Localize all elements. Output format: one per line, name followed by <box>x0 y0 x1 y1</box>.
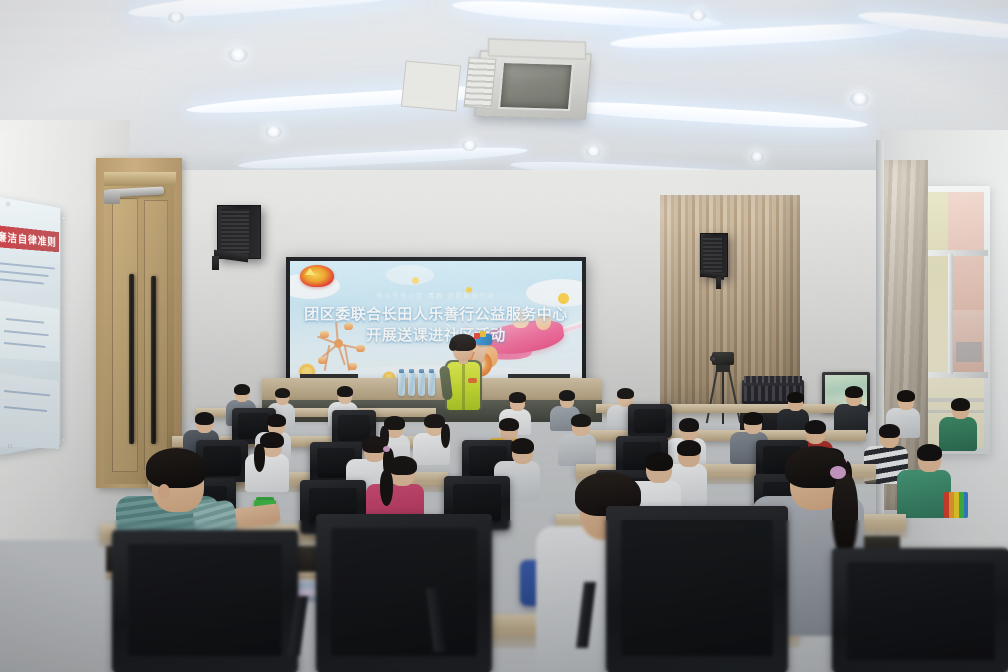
tripod-leg <box>722 370 724 424</box>
vest-logo <box>468 378 477 383</box>
chair-backrest <box>847 562 995 660</box>
slide-subtitle: 长沙市天心区 青春 志愿服务行动 <box>290 291 582 300</box>
emblem-star-icon <box>305 268 315 275</box>
student-shirt <box>897 470 951 518</box>
chair-backrest <box>634 409 666 433</box>
student-hair <box>879 424 900 438</box>
presenter-hair-bun <box>449 341 457 351</box>
window-mullion-vertical <box>948 254 953 374</box>
door-panel <box>112 198 138 472</box>
poster-screw <box>62 438 66 442</box>
student-hairtie <box>830 466 846 479</box>
student-hair <box>787 392 804 403</box>
exterior-window <box>956 342 982 362</box>
student-hair <box>195 412 214 425</box>
student-hair <box>897 390 915 402</box>
student-hair <box>511 438 534 454</box>
student-hair <box>559 390 575 401</box>
student-shirt <box>939 417 977 451</box>
student-hair <box>617 388 634 399</box>
student-hair <box>743 412 763 425</box>
slide-title-line-1: 团区委联合长田人乐善行公益服务中心 <box>290 305 582 326</box>
student-hair <box>275 388 290 398</box>
ceiling-downlight <box>228 48 248 62</box>
vest-zipper <box>462 364 465 410</box>
chair-backrest <box>203 446 241 476</box>
student-hair <box>267 414 286 427</box>
mixer-knob-row[interactable] <box>744 376 802 383</box>
student-hair <box>571 414 591 427</box>
student-hair <box>146 448 206 488</box>
bottle-cap <box>399 369 404 373</box>
door-handle[interactable] <box>151 276 156 444</box>
slide-cloud <box>386 265 434 285</box>
speaker-mount-arm <box>212 256 219 270</box>
ac-vent-left <box>463 57 496 109</box>
window-mullion-horizontal <box>918 250 988 256</box>
door-handle[interactable] <box>129 274 134 444</box>
student-hair <box>234 384 250 395</box>
poster-screw <box>6 202 10 206</box>
ceiling-downlight <box>850 92 869 106</box>
ceiling-downlight <box>168 12 184 23</box>
ceiling-access-panel <box>401 61 461 112</box>
student-hair <box>805 420 826 434</box>
window-mullion-horizontal <box>918 372 988 378</box>
speaker-grille <box>703 236 722 272</box>
door-closer-body <box>104 190 120 204</box>
chair-backrest <box>338 415 370 441</box>
student-hairtie <box>383 446 390 452</box>
rainbow-shirt-graphic <box>944 492 968 518</box>
door-top-rail <box>104 172 176 186</box>
student-hair <box>337 386 353 397</box>
slide-title: 团区委联合长田人乐善行公益服务中心 开展送课进社区活动 <box>290 305 582 346</box>
student-ponytail <box>254 444 265 472</box>
ceiling-downlight <box>690 10 706 21</box>
water-bottle <box>408 372 415 396</box>
bottle-cap <box>429 369 434 373</box>
student-hair <box>499 418 519 431</box>
poster-screw <box>8 444 12 448</box>
student-ear <box>158 484 170 500</box>
student-hair <box>845 386 863 398</box>
chair-backrest <box>331 528 477 656</box>
student-hair <box>260 432 284 448</box>
water-bottle <box>428 372 435 396</box>
student-ponytail <box>441 424 450 448</box>
student-hair <box>951 398 970 411</box>
bottle-cap <box>409 369 414 373</box>
student-hair <box>679 418 699 432</box>
student-hair <box>509 392 526 403</box>
ac-vent-top <box>488 38 586 59</box>
door-panel <box>144 200 168 470</box>
water-bottle <box>398 372 405 396</box>
speaker-mount-arm <box>716 277 721 289</box>
slide-dot <box>412 277 419 284</box>
student-hair <box>645 452 673 471</box>
chair-backrest <box>621 520 773 656</box>
student-ponytail <box>380 470 393 506</box>
student-shirt <box>245 454 289 492</box>
water-bottle <box>418 372 425 396</box>
ferris-wheel-base <box>344 345 350 371</box>
poster-screw <box>62 216 66 220</box>
camera-lens-icon <box>710 355 717 362</box>
ac-filter-grille <box>498 61 574 111</box>
chair-backrest <box>128 544 282 656</box>
projection-screen: 长沙市天心区 青春 志愿服务行动 团区委联合长田人乐善行公益服务中心 开展送课进… <box>290 261 582 392</box>
bottle-cap <box>419 369 424 373</box>
student-shirt <box>558 434 596 466</box>
presenter-prop-block <box>480 331 486 337</box>
student-hair <box>917 444 942 461</box>
student-ponytail <box>832 474 858 558</box>
ceiling-downlight <box>265 126 282 138</box>
student-hair <box>677 440 701 456</box>
speaker-grille <box>221 209 249 253</box>
slide-title-line-2: 开展送课进社区活动 <box>290 326 582 347</box>
student-hair <box>388 456 417 475</box>
classroom-photo-scene: 廉洁自律准则 <box>0 0 1008 672</box>
